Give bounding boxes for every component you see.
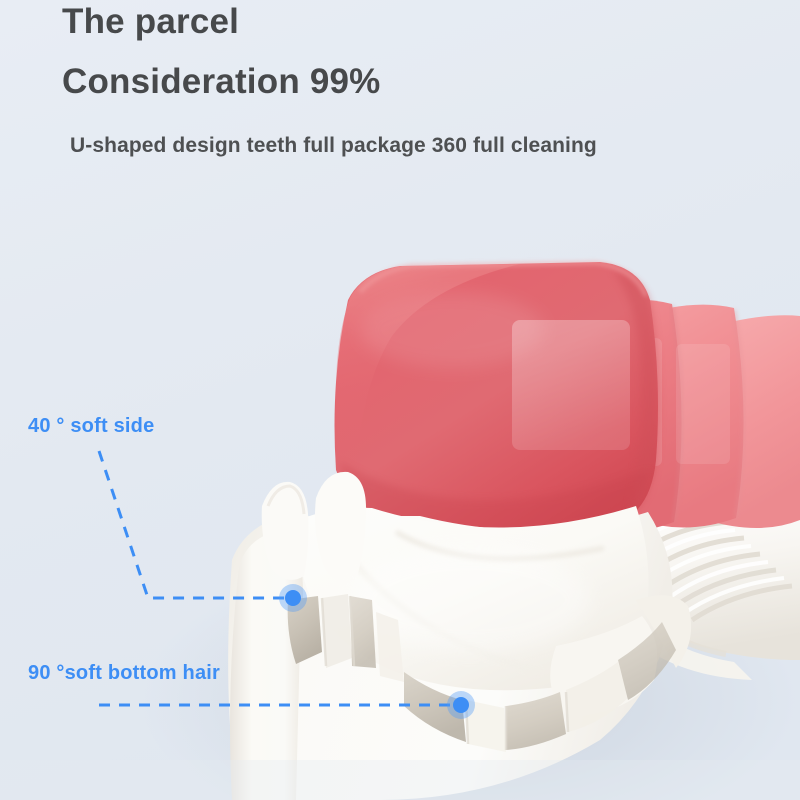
page-title-line-1: The parcel (62, 2, 239, 42)
annotation-label-soft-side: 40 ° soft side (28, 415, 154, 438)
page-title-line-2: Consideration 99% (62, 62, 380, 102)
annotation-marker-bottom-hair (447, 691, 475, 719)
silicone-front-pad (335, 262, 660, 536)
page-subtitle: U-shaped design teeth full package 360 f… (70, 134, 597, 158)
product-feature-image: The parcel Consideration 99% U-shaped de… (0, 0, 800, 800)
annotation-label-bottom-hair: 90 °soft bottom hair (28, 662, 220, 685)
annotation-marker-soft-side (279, 584, 307, 612)
